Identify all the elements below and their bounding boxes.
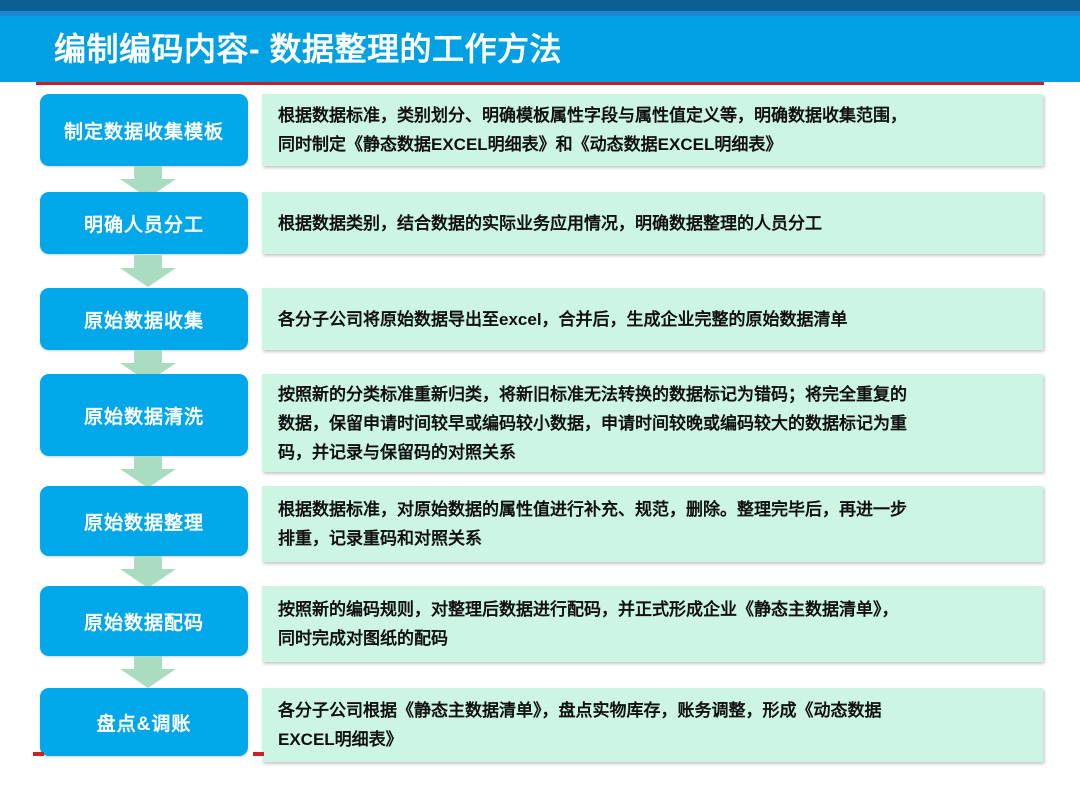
description-line: 数据，保留申请时间较早或编码较小数据，申请时间较晚或编码较大的数据标记为重 (278, 409, 1029, 438)
corner-mark-left (33, 752, 44, 756)
step-description-6: 按照新的编码规则，对整理后数据进行配码，并正式形成企业《静态主数据清单》，同时完… (262, 586, 1043, 662)
description-line: 同时完成对图纸的配码 (278, 624, 1029, 653)
step-label-5[interactable]: 原始数据整理 (40, 486, 248, 556)
description-line: EXCEL明细表》 (278, 725, 1029, 754)
description-line: 同时制定《静态数据EXCEL明细表》和《动态数据EXCEL明细表》 (278, 130, 1029, 159)
step-label-4[interactable]: 原始数据清洗 (40, 374, 248, 456)
flow-arrow-down-icon (120, 556, 176, 588)
arrow-stem (134, 556, 162, 569)
step-description-3: 各分子公司将原始数据导出至excel，合并后，生成企业完整的原始数据清单 (262, 288, 1043, 350)
description-line: 各分子公司将原始数据导出至excel，合并后，生成企业完整的原始数据清单 (278, 305, 1029, 334)
process-flow-diagram: 制定数据收集模板根据数据标准，类别划分、明确模板属性字段与属性值定义等，明确数据… (0, 90, 1080, 790)
header-divider-rule (36, 82, 1044, 85)
top-accent-bar-dark (0, 0, 1080, 11)
arrow-head (120, 268, 176, 287)
description-line: 根据数据标准，类别划分、明确模板属性字段与属性值定义等，明确数据收集范围， (278, 101, 1029, 130)
arrow-stem (134, 255, 162, 268)
arrow-stem (134, 456, 162, 469)
arrow-head (120, 669, 176, 688)
description-line: 码，并记录与保留码的对照关系 (278, 438, 1029, 467)
description-line: 根据数据标准，对原始数据的属性值进行补充、规范，删除。整理完毕后，再进一步 (278, 495, 1029, 524)
arrow-stem (134, 350, 162, 363)
description-line: 根据数据类别，结合数据的实际业务应用情况，明确数据整理的人员分工 (278, 209, 1029, 238)
description-line: 排重，记录重码和对照关系 (278, 524, 1029, 553)
description-line: 按照新的编码规则，对整理后数据进行配码，并正式形成企业《静态主数据清单》， (278, 595, 1029, 624)
arrow-stem (134, 656, 162, 669)
arrow-stem (134, 166, 162, 179)
step-label-1[interactable]: 制定数据收集模板 (40, 94, 248, 166)
step-description-1: 根据数据标准，类别划分、明确模板属性字段与属性值定义等，明确数据收集范围，同时制… (262, 94, 1043, 166)
flow-arrow-down-icon (120, 656, 176, 688)
step-description-2: 根据数据类别，结合数据的实际业务应用情况，明确数据整理的人员分工 (262, 192, 1043, 254)
flow-arrow-down-icon (120, 255, 176, 287)
step-description-5: 根据数据标准，对原始数据的属性值进行补充、规范，删除。整理完毕后，再进一步排重，… (262, 486, 1043, 562)
step-label-7[interactable]: 盘点&调账 (40, 688, 248, 756)
step-description-7: 各分子公司根据《静态主数据清单》，盘点实物库存，账务调整，形成《动态数据EXCE… (262, 688, 1043, 762)
step-label-3[interactable]: 原始数据收集 (40, 288, 248, 350)
corner-mark-right (253, 752, 264, 756)
step-label-2[interactable]: 明确人员分工 (40, 192, 248, 254)
description-line: 按照新的分类标准重新归类，将新旧标准无法转换的数据标记为错码；将完全重复的 (278, 380, 1029, 409)
description-line: 各分子公司根据《静态主数据清单》，盘点实物库存，账务调整，形成《动态数据 (278, 696, 1029, 725)
step-label-6[interactable]: 原始数据配码 (40, 586, 248, 656)
step-description-4: 按照新的分类标准重新归类，将新旧标准无法转换的数据标记为错码；将完全重复的数据，… (262, 374, 1043, 472)
page-title: 编制编码内容- 数据整理的工作方法 (54, 27, 562, 71)
flow-arrow-down-icon (120, 456, 176, 488)
